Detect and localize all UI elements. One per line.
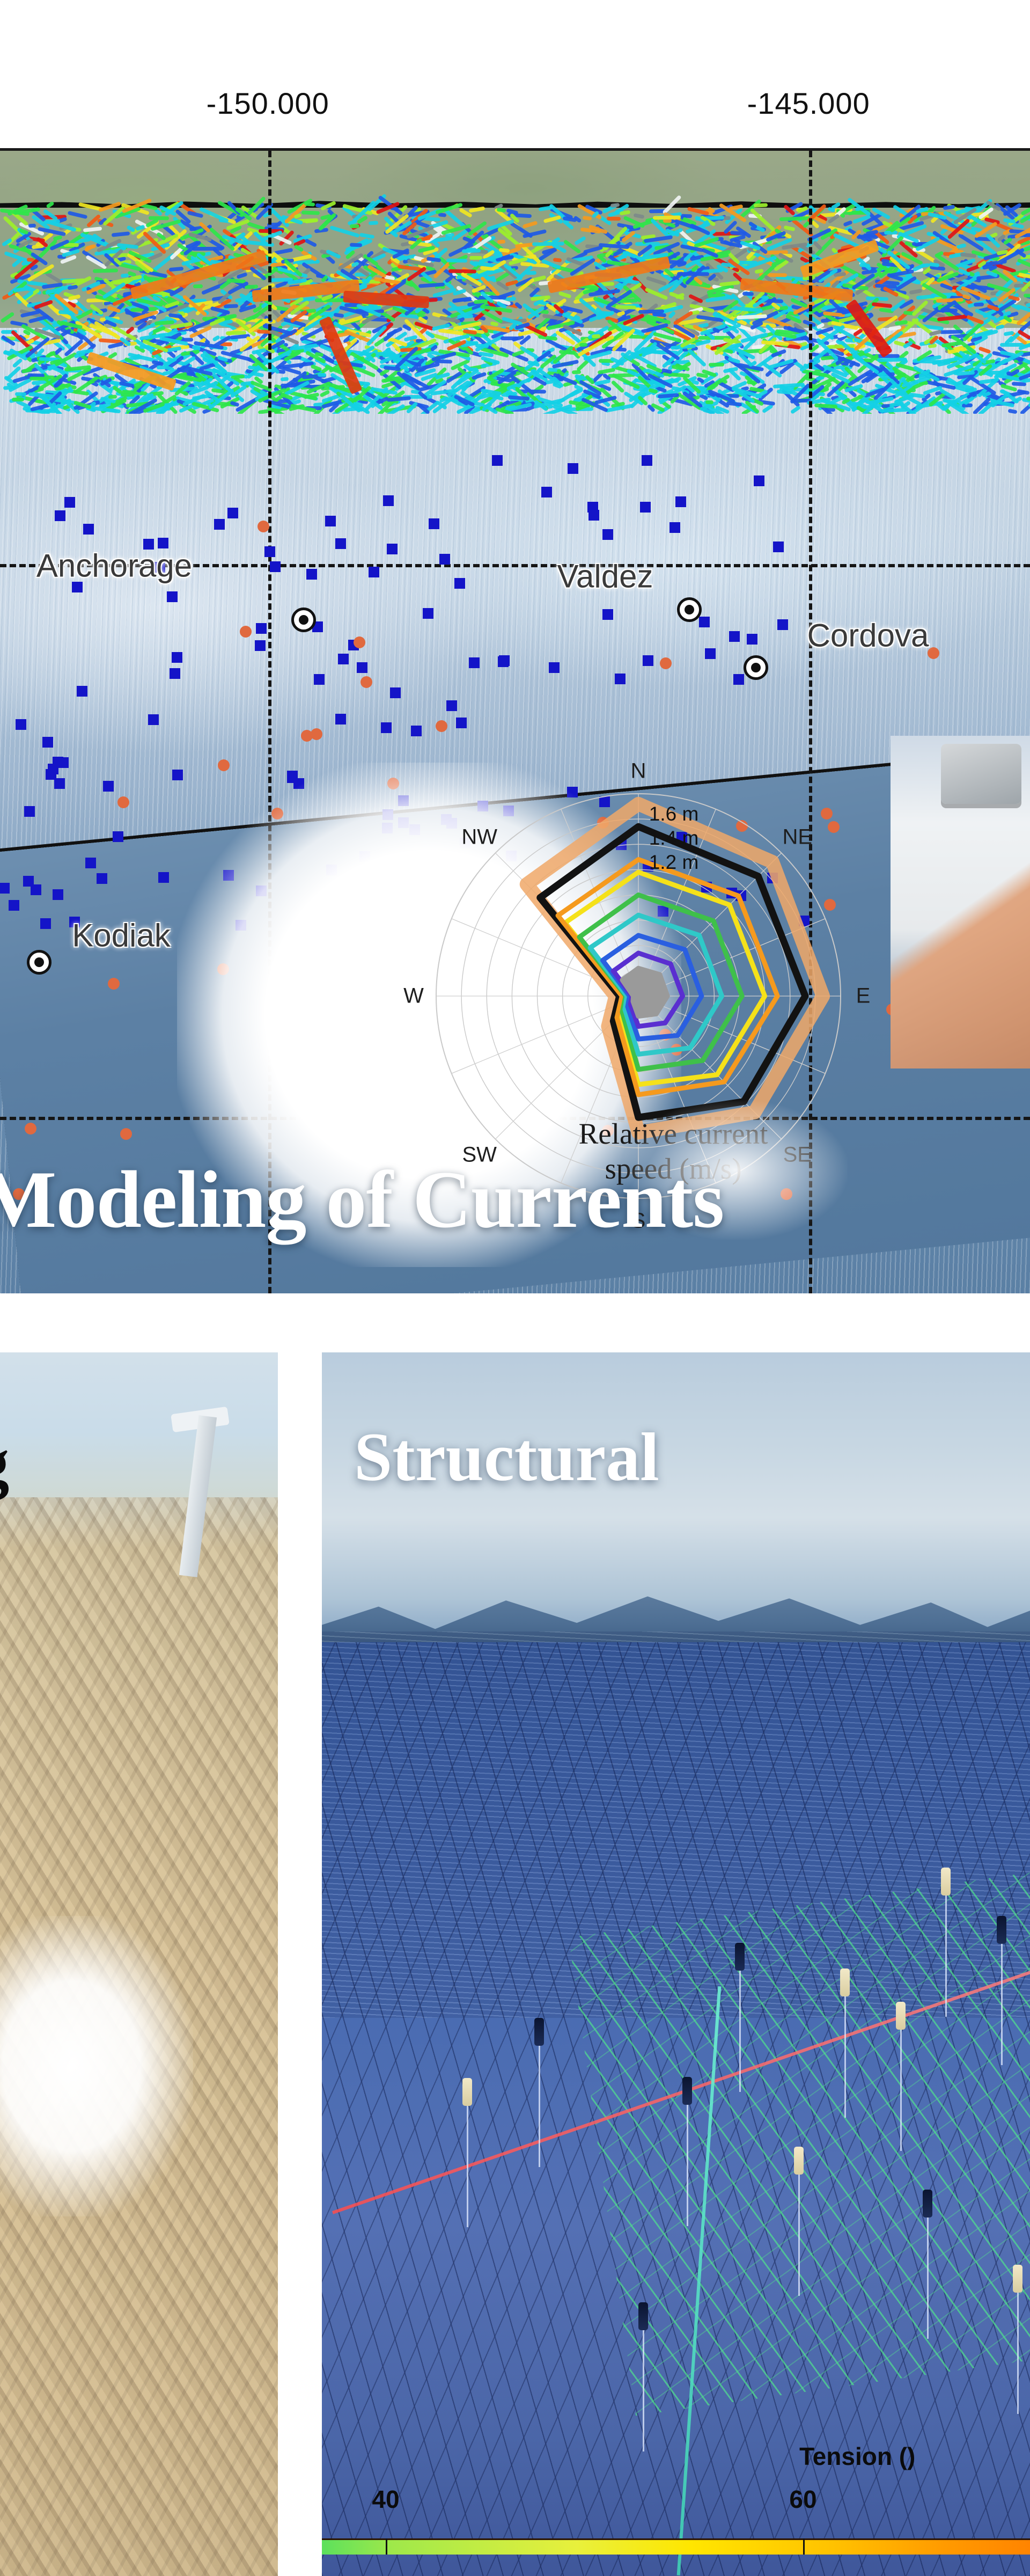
poster-root: -150.000 -145.000 Anchorage Valdez Cordo (0, 0, 1030, 2576)
model-mooring-line (945, 1893, 947, 2017)
model-mooring-line (687, 2103, 688, 2226)
observation-square-marker (167, 591, 178, 602)
city-label-kodiak: Kodiak (72, 917, 170, 954)
observation-square-marker (364, 863, 375, 874)
observation-square-marker (54, 778, 65, 789)
observation-square-marker (381, 722, 392, 733)
observation-square-marker (9, 900, 19, 911)
observation-dot-marker (257, 521, 269, 532)
observation-dot-marker (108, 978, 120, 990)
left-panel-heading: ng (0, 1422, 130, 1503)
observation-square-marker (77, 686, 87, 697)
observation-square-marker (83, 524, 94, 535)
model-mooring-line (539, 2044, 540, 2167)
observation-square-marker (640, 502, 651, 513)
model-net-green-lines (569, 1854, 1030, 2416)
observation-square-marker (411, 726, 422, 736)
model-buoy (1013, 2265, 1022, 2293)
observation-dot-marker (360, 676, 372, 688)
observation-square-marker (170, 668, 180, 679)
rose-radial-tick-2: 1.2 m (649, 851, 699, 874)
observation-square-marker (446, 700, 457, 711)
observation-square-marker (588, 510, 599, 521)
observation-square-marker (602, 609, 613, 620)
observation-square-marker (469, 657, 480, 668)
axis-tick-label-right: -145.000 (747, 86, 870, 121)
observation-square-marker (602, 529, 613, 540)
observation-dot-marker (217, 963, 229, 975)
observation-square-marker (357, 662, 367, 673)
observation-square-marker (24, 806, 35, 817)
observation-square-marker (429, 518, 439, 529)
model-buoy (997, 1916, 1006, 1944)
city-marker-kodiak[interactable] (27, 950, 51, 975)
rose-radial-tick-0: 1.6 m (649, 803, 699, 825)
tension-tick-40: 40 (372, 2485, 399, 2514)
rose-direction-label-nw: NW (461, 825, 497, 849)
map-axis-strip: -150.000 -145.000 (0, 0, 1030, 149)
rose-direction-label-w: W (403, 984, 424, 1008)
observation-square-marker (338, 654, 349, 664)
observation-square-marker (55, 510, 65, 521)
observation-square-marker (492, 455, 503, 466)
city-marker-anchorage[interactable] (291, 608, 316, 632)
tension-tick-60: 60 (789, 2485, 816, 2514)
observation-square-marker (172, 770, 183, 780)
observation-dot-marker (290, 1054, 302, 1066)
model-mooring-line (467, 2104, 468, 2227)
current-velocity-raster (0, 188, 1030, 414)
observation-square-marker (256, 885, 267, 896)
observation-square-marker (53, 757, 63, 767)
observation-square-marker (773, 541, 784, 552)
observation-square-marker (325, 516, 336, 526)
observation-dot-marker (240, 626, 252, 638)
model-buoy (794, 2147, 804, 2175)
observation-dot-marker (660, 657, 672, 669)
observation-square-marker (113, 831, 123, 842)
model-mooring-line (1001, 1942, 1003, 2065)
observation-dot-marker (271, 808, 283, 819)
observation-square-marker (549, 662, 560, 673)
observation-square-marker (16, 719, 26, 730)
observation-square-marker (158, 872, 169, 883)
observation-dot-marker (326, 1115, 337, 1127)
city-marker-valdez[interactable] (677, 597, 702, 622)
tension-colorbar (322, 2538, 1030, 2555)
observation-square-marker (97, 873, 107, 884)
observation-square-marker (382, 823, 393, 833)
observation-square-marker (413, 927, 423, 938)
model-mooring-line (927, 2215, 929, 2339)
observation-square-marker (381, 864, 392, 875)
map-raster: Anchorage Valdez Cordova Kodiak NNEESESS… (0, 151, 1030, 1293)
currents-map-panel: -150.000 -145.000 Anchorage Valdez Cordo (0, 0, 1030, 1293)
observation-square-marker (499, 655, 510, 666)
observation-square-marker (454, 578, 465, 589)
axis-tick-label-left: -150.000 (207, 86, 329, 121)
observation-square-marker (705, 648, 716, 659)
observation-dot-marker (354, 636, 365, 648)
observation-square-marker (643, 655, 653, 666)
tension-legend-title: Tension () (799, 2442, 915, 2471)
observation-square-marker (335, 714, 346, 724)
model-mooring-line (844, 1994, 846, 2118)
observation-square-marker (40, 918, 51, 929)
model-mooring-line (643, 2328, 644, 2451)
observation-square-marker (270, 561, 281, 572)
observation-square-marker (390, 687, 401, 698)
observation-square-marker (0, 883, 10, 894)
monitoring-photo-panel (0, 1352, 278, 2576)
observation-square-marker (382, 809, 393, 820)
observation-square-marker (148, 714, 159, 725)
observation-square-marker (409, 824, 420, 835)
observation-square-marker (53, 889, 63, 900)
observation-dot-marker (218, 759, 230, 771)
model-buoy (682, 2077, 692, 2105)
observation-square-marker (359, 851, 370, 862)
observation-square-marker (439, 554, 450, 565)
observation-square-marker (214, 519, 225, 530)
rose-direction-label-n: N (631, 759, 646, 784)
rose-caption-line-1: Relative current (579, 1117, 768, 1152)
observation-square-marker (223, 870, 234, 881)
observation-square-marker (423, 608, 433, 619)
colorbar-tick-40 (386, 2538, 387, 2555)
city-label-valdez: Valdez (557, 558, 653, 595)
model-mooring-line (739, 1968, 741, 2092)
observation-square-marker (541, 487, 552, 497)
model-buoy (735, 1943, 745, 1971)
observation-square-marker (642, 455, 652, 466)
right-panel-heading: Structural (354, 1411, 1030, 1503)
structural-model-panel (322, 1352, 1030, 2576)
observation-square-marker (23, 876, 34, 887)
model-buoy (896, 2002, 906, 2030)
observation-square-marker (326, 865, 337, 875)
observation-square-marker (729, 631, 740, 642)
observation-square-marker (387, 912, 398, 923)
observation-square-marker (85, 858, 96, 868)
model-buoy (534, 2018, 544, 2046)
model-mooring-line (1017, 2290, 1019, 2414)
observation-square-marker (369, 567, 379, 577)
observation-square-marker (42, 737, 53, 748)
observation-square-marker (256, 623, 267, 634)
observation-square-marker (747, 634, 757, 645)
observation-square-marker (293, 778, 304, 789)
observation-square-marker (255, 640, 266, 651)
observation-square-marker (306, 569, 317, 580)
observation-square-marker (103, 781, 114, 792)
model-buoy (941, 1868, 951, 1896)
rose-radial-tick-1: 1.4 m (649, 827, 699, 850)
observation-square-marker (615, 674, 626, 684)
observation-dot-marker (120, 1128, 132, 1140)
model-mooring-line (900, 2028, 902, 2151)
observation-square-marker (335, 538, 346, 549)
model-buoy (638, 2302, 648, 2330)
panel-gutter (0, 1293, 1030, 1352)
observation-square-marker (456, 718, 467, 728)
observation-square-marker (754, 475, 764, 486)
observation-square-marker (398, 795, 409, 806)
model-buoy (462, 2078, 472, 2106)
observation-dot-marker (387, 778, 399, 789)
adcp-instrument-icon (941, 744, 1021, 804)
observation-dot-marker (928, 647, 939, 659)
observation-dot-marker (25, 1123, 36, 1135)
observation-square-marker (398, 817, 409, 828)
colorbar-tick-60 (803, 2538, 805, 2555)
observation-dot-marker (117, 796, 129, 808)
observation-square-marker (777, 619, 788, 630)
observation-square-marker (236, 920, 246, 931)
observation-square-marker (264, 546, 275, 557)
observation-square-marker (64, 497, 75, 508)
city-label-cordova: Cordova (807, 617, 929, 654)
city-label-anchorage: Anchorage (36, 547, 192, 584)
page-title: Modeling of Currents (0, 1148, 1030, 1250)
city-marker-cordova[interactable] (744, 655, 768, 680)
observation-square-marker (383, 495, 394, 506)
model-buoy (840, 1968, 850, 1996)
rose-direction-label-ne: NE (782, 825, 812, 849)
rose-direction-label-e: E (856, 984, 871, 1008)
observation-dot-marker (436, 720, 447, 732)
observation-square-marker (314, 674, 325, 685)
graticule-vertical-150 (268, 151, 271, 1293)
observation-square-marker (733, 674, 744, 685)
observation-square-marker (172, 652, 182, 663)
kelp-photo-lens-flare (0, 1916, 193, 2216)
observation-square-marker (675, 496, 686, 507)
observation-square-marker (227, 508, 238, 518)
observation-square-marker (568, 463, 578, 474)
observation-dot-marker (311, 728, 322, 740)
observation-square-marker (387, 544, 398, 554)
model-mooring-line (798, 2172, 800, 2296)
observation-square-marker (669, 522, 680, 533)
model-buoy (923, 2190, 932, 2218)
observation-square-marker (699, 617, 710, 627)
